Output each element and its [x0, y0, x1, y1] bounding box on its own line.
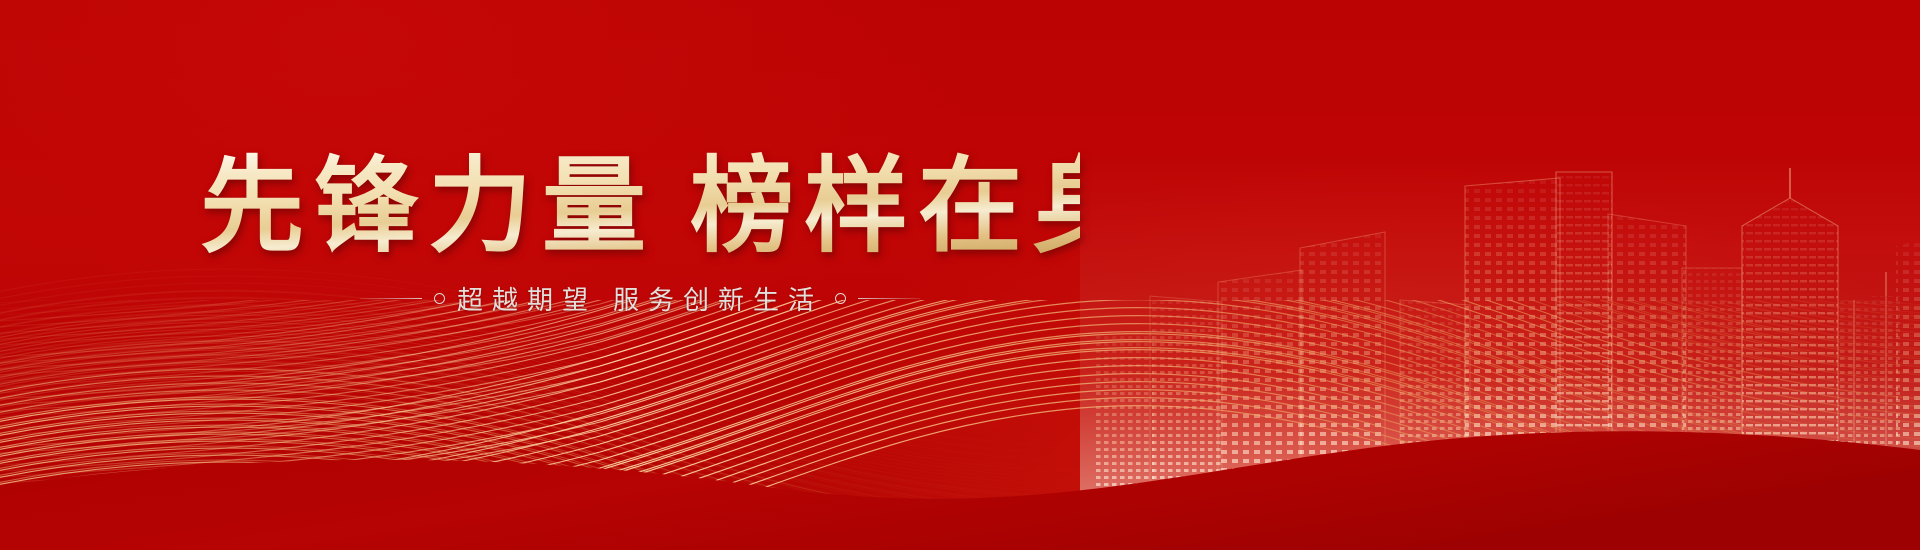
page-subtitle: 超越期望服务创新生活 — [457, 280, 823, 317]
left-rule-icon — [360, 298, 422, 299]
page-title: 先锋力量榜样在身边 — [200, 150, 1080, 262]
subtitle-part2: 服务创新生活 — [613, 286, 823, 316]
left-ring-icon — [434, 293, 445, 304]
title-part2: 榜样在身边 — [690, 145, 1260, 267]
subtitle-row: 超越期望服务创新生活 — [200, 280, 1080, 317]
title-part1: 先锋力量 — [200, 145, 656, 267]
headline-block: 先锋力量榜样在身边 超越期望服务创新生活 — [200, 150, 1080, 317]
right-rule-icon — [858, 298, 920, 299]
promo-banner: 先锋力量榜样在身边 超越期望服务创新生活 — [0, 0, 1920, 550]
right-ring-icon — [835, 293, 846, 304]
subtitle-part1: 超越期望 — [457, 286, 597, 316]
